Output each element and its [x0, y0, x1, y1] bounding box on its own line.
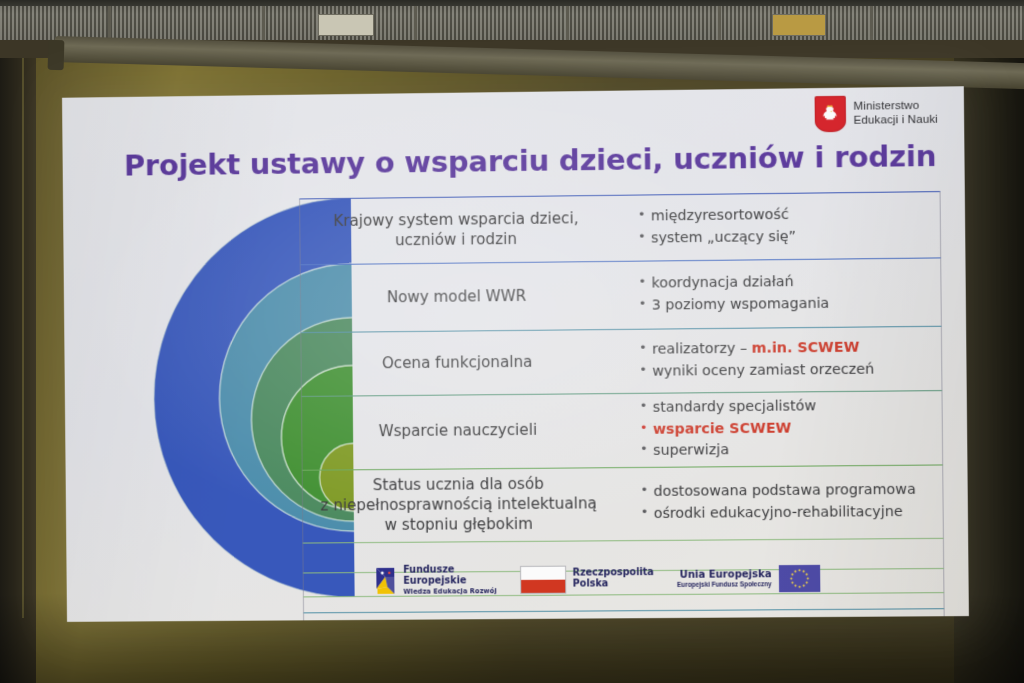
fundusze-europejskie-text: Fundusze Europejskie Wiedza Edukacja Roz…	[403, 565, 497, 595]
ceiling-seam	[870, 6, 873, 40]
fundusze-line2: Europejskie	[403, 576, 496, 587]
polish-flag-icon	[520, 566, 566, 594]
table-row-bullets: koordynacja działań3 poziomy wspomagania	[612, 266, 940, 321]
bullet-text: koordynacja działań	[651, 274, 793, 292]
bullet-text: międzyresortowość	[651, 207, 789, 225]
bullet-item: realizatorzy – m.in. SCWEW	[639, 337, 937, 362]
ceiling-seam	[414, 6, 417, 40]
table-row-label-line: z niepełnosprawnością intelektualną	[313, 494, 605, 516]
fundusze-europejskie-logo: Fundusze Europejskie Wiedza Edukacja Roz…	[374, 564, 497, 597]
ceiling-seam	[566, 6, 569, 40]
ceiling-vent	[318, 14, 374, 36]
projection-screen: Ministerstwo Edukacji i Nauki Projekt us…	[62, 86, 969, 622]
bullet-text: 3 poziomy wspomagania	[652, 295, 830, 313]
table-row-label: Ocena funkcjonalna	[302, 348, 614, 379]
unia-europejska-text: Unia Europejska Europejski Fundusz Społe…	[677, 569, 772, 589]
ministry-logo: Ministerstwo Edukacji i Nauki	[814, 95, 938, 133]
bullet-text: wyniki oceny zamiast orzeczeń	[652, 361, 874, 379]
bullet-item: koordynacja działań	[638, 270, 936, 295]
page-title: Projekt ustawy o wsparciu dzieci, ucznió…	[124, 139, 937, 183]
table-row-label: Krajowy system wsparcia dzieci,uczniów i…	[300, 205, 612, 256]
bullet-item: 3 poziomy wspomagania	[639, 292, 937, 317]
bullet-item: dostosowana podstawa programowa	[640, 480, 938, 504]
table-row-label-line: Krajowy system wsparcia dzieci,	[310, 209, 602, 232]
rzeczpospolita-polska-logo: Rzeczpospolita Polska	[520, 565, 654, 594]
table-row-label-line: Status ucznia dla osób	[313, 474, 605, 496]
table-row-label-line: Nowy model WWR	[311, 286, 603, 309]
table-row: Krajowy system wsparcia dzieci,uczniów i…	[299, 191, 941, 265]
left-wall-edge	[0, 58, 36, 683]
bullet-item: superwizja	[640, 439, 938, 463]
conference-room-photo: Ministerstwo Edukacji i Nauki Projekt us…	[0, 0, 1024, 683]
table-row-label-line: Wsparcie nauczycieli	[312, 421, 604, 443]
bullet-item: system „uczący się”	[638, 225, 936, 250]
bullet-text: dostosowana podstawa programowa	[653, 482, 915, 500]
bullet-item: wsparcie SCWEW	[640, 417, 938, 441]
table-row-label: Nowy model WWR	[301, 282, 613, 313]
presentation-slide: Ministerstwo Edukacji i Nauki Projekt us…	[62, 86, 969, 622]
bullet-text: system „uczący się”	[651, 228, 796, 246]
bullet-text: superwizja	[653, 442, 729, 459]
eu-flag-icon	[778, 564, 820, 591]
bullet-item: ośrodki edukacyjno-rehabilitacyjne	[641, 501, 939, 525]
polish-eagle-coat-of-arms-icon	[814, 96, 846, 133]
table-row-label-line: w stopniu głębokim	[313, 514, 605, 536]
table-row-bullets: dostosowana podstawa programowaośrodki e…	[614, 476, 942, 530]
bullet-text: standardy specjalistów	[653, 398, 817, 416]
unia-line1: Unia Europejska	[677, 569, 772, 581]
unia-europejska-logo: Unia Europejska Europejski Fundusz Społe…	[677, 564, 820, 592]
table-row-bullets: międzyresortowośćsystem „uczący się”	[612, 199, 940, 254]
table-row: Status ucznia dla osóbz niepełnosprawnoś…	[302, 465, 944, 543]
table-row-bullets: realizatorzy – m.in. SCWEWwyniki oceny z…	[613, 333, 941, 387]
ministry-name-line1: Ministerstwo	[853, 98, 937, 113]
wall-corner-line	[22, 58, 24, 618]
fundusze-subtitle: Wiedza Edukacja Rozwój	[403, 588, 496, 596]
rzeczpospolita-line2: Polska	[573, 579, 654, 590]
ceiling-seam	[718, 6, 721, 40]
table-row-label: Status ucznia dla osóbz niepełnosprawnoś…	[303, 470, 615, 540]
table-row-label-line: Ocena funkcjonalna	[312, 352, 604, 375]
table-row-bullets: standardy specjalistówwsparcie SCWEWsupe…	[613, 391, 942, 467]
table-row-label: Wsparcie nauczycieli	[302, 417, 614, 447]
bullet-text: ośrodki edukacyjno-rehabilitacyjne	[654, 504, 903, 522]
ministry-name-line2: Edukacji i Nauki	[854, 113, 938, 128]
bullet-highlight-text: wsparcie SCWEW	[653, 420, 792, 437]
bullet-item: standardy specjalistów	[640, 395, 938, 419]
table-row-label-line: uczniów i rodzin	[310, 229, 602, 252]
bullet-item: wyniki oceny zamiast orzeczeń	[639, 358, 937, 382]
table-row: Ocena funkcjonalnarealizatorzy – m.in. S…	[300, 327, 942, 397]
unia-subtitle: Europejski Fundusz Społeczny	[677, 581, 772, 589]
ceiling-seam	[108, 6, 111, 40]
projector-screen-roller-cap	[48, 40, 65, 70]
bullet-text: realizatorzy –	[652, 341, 752, 358]
ministry-logo-text: Ministerstwo Edukacji i Nauki	[853, 98, 937, 128]
fundusze-europejskie-mark-icon	[374, 565, 396, 597]
eu-funding-logo-bar: Fundusze Europejskie Wiedza Edukacja Roz…	[374, 551, 876, 607]
ceiling-light-fixture	[772, 14, 826, 36]
table-row: Wsparcie nauczycielistandardy specjalist…	[301, 391, 943, 470]
table-row: Nowy model WWRkoordynacja działań3 pozio…	[300, 258, 942, 333]
ceiling-seam	[262, 6, 265, 40]
bullet-highlight-text: m.in. SCWEW	[752, 340, 860, 357]
rzeczpospolita-text: Rzeczpospolita Polska	[573, 568, 654, 590]
